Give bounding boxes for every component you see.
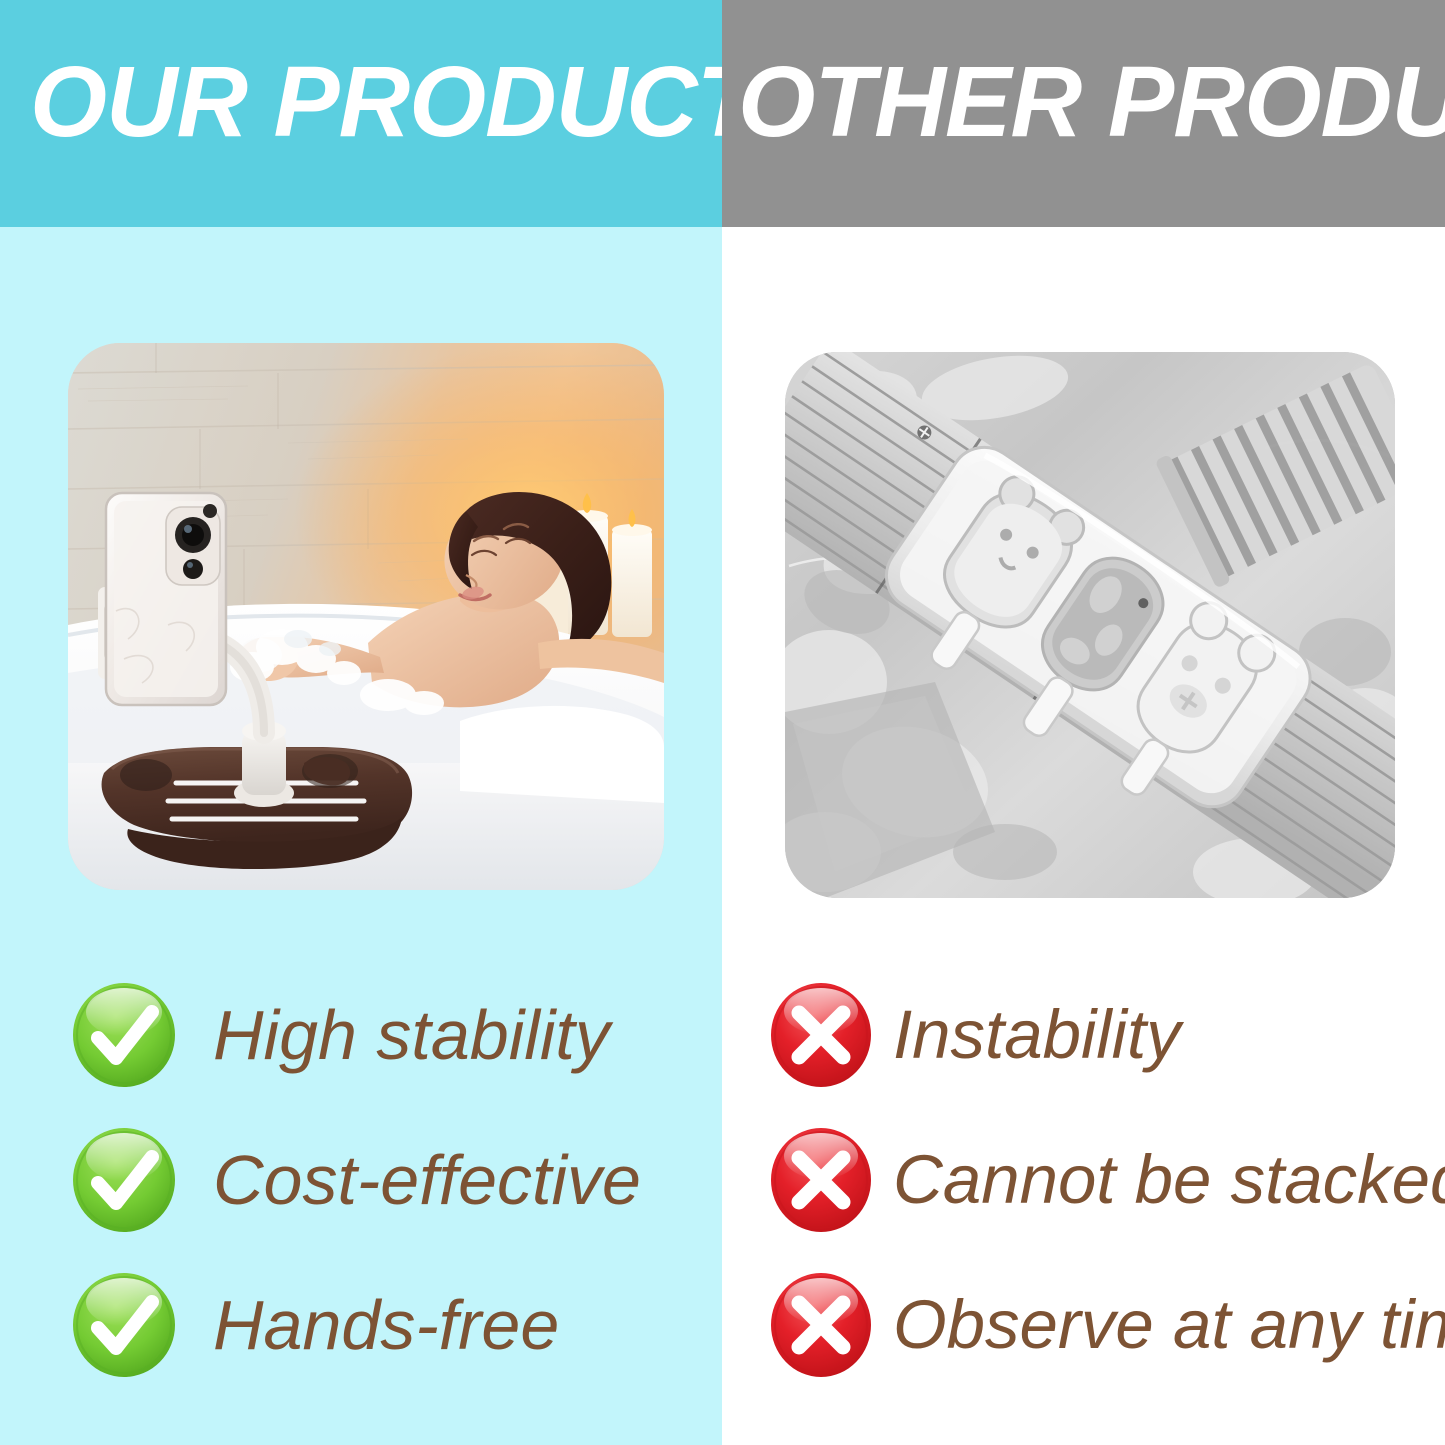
feature-label: Cost-effective bbox=[213, 1145, 641, 1215]
feature-row: Cannot be stacked bbox=[722, 1107, 1445, 1252]
feature-label: Hands-free bbox=[213, 1290, 559, 1360]
our-products-panel: High stability Cost-effective bbox=[0, 227, 722, 1445]
feature-row: Instability bbox=[722, 962, 1445, 1107]
x-circle-icon bbox=[769, 1272, 873, 1378]
our-products-title: OUR PRODUCTS bbox=[30, 52, 722, 152]
bathtub-phone-holder-photo bbox=[68, 343, 664, 890]
feature-row: Hands-free bbox=[0, 1252, 722, 1397]
check-circle-icon bbox=[72, 1272, 176, 1378]
comparison-infographic: OUR PRODUCTS OTHER PRODUCTS bbox=[0, 0, 1445, 1445]
feature-row: Observe at any time bbox=[722, 1252, 1445, 1397]
header-bar: OUR PRODUCTS OTHER PRODUCTS bbox=[0, 0, 1445, 227]
popsicle-mold-photo bbox=[785, 352, 1395, 898]
our-products-feature-list: High stability Cost-effective bbox=[0, 962, 722, 1397]
x-circle-icon bbox=[769, 982, 873, 1088]
check-circle-icon bbox=[72, 982, 176, 1088]
check-circle-icon bbox=[72, 1127, 176, 1233]
other-products-panel: Instability Cannot be stacked bbox=[722, 227, 1445, 1445]
feature-label: Cannot be stacked bbox=[893, 1145, 1445, 1214]
other-products-title: OTHER PRODUCTS bbox=[738, 52, 1445, 152]
feature-row: High stability bbox=[0, 962, 722, 1107]
feature-label: High stability bbox=[213, 1000, 610, 1070]
header-other-products: OTHER PRODUCTS bbox=[722, 0, 1445, 227]
x-circle-icon bbox=[769, 1127, 873, 1233]
header-our-products: OUR PRODUCTS bbox=[0, 0, 722, 227]
comparison-panels: High stability Cost-effective bbox=[0, 227, 1445, 1445]
other-products-feature-list: Instability Cannot be stacked bbox=[722, 962, 1445, 1397]
feature-label: Instability bbox=[893, 1000, 1181, 1069]
feature-row: Cost-effective bbox=[0, 1107, 722, 1252]
feature-label: Observe at any time bbox=[893, 1290, 1445, 1359]
